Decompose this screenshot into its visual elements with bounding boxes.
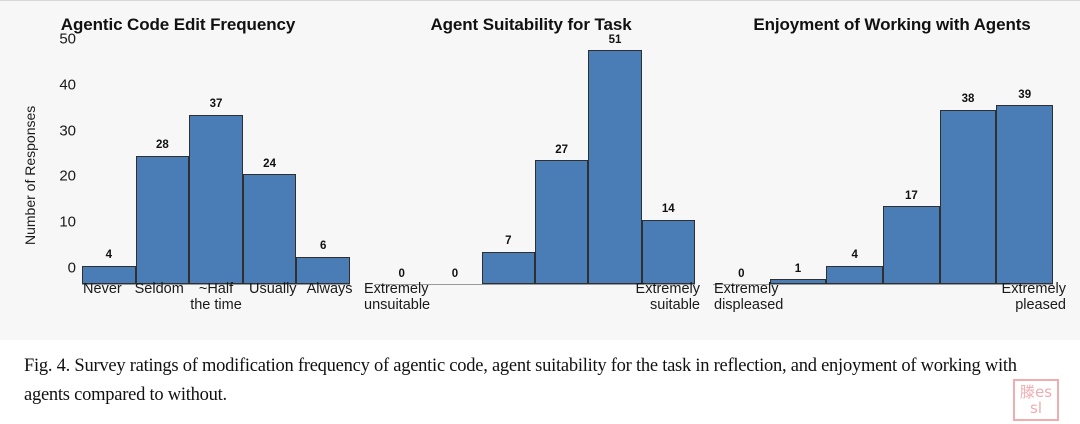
- bar: [189, 115, 243, 284]
- bar-slot: 27: [535, 55, 588, 284]
- bar-value-label: 6: [296, 241, 350, 253]
- bar-slot: 4: [826, 55, 883, 284]
- bar-value-label: 24: [243, 159, 297, 171]
- y-tick-label: 0: [68, 260, 76, 277]
- chart-agentic-code-edit-frequency: Agentic Code Edit Frequency 50 40 30 20 …: [0, 1, 356, 341]
- bar-slot: 51: [588, 55, 641, 284]
- x-tick-label-end: Extremely suitable: [604, 281, 700, 325]
- x-axis-labels: Extremely displeased Extremely pleased: [714, 281, 1066, 325]
- bar-slot: 38: [940, 55, 997, 284]
- bar-slot: 24: [243, 55, 297, 284]
- bar-value-label: 39: [996, 90, 1053, 102]
- bar-series: 0 0 7 27 51: [375, 55, 695, 284]
- bar-slot: 28: [136, 55, 190, 284]
- bar: [136, 156, 190, 284]
- bar: [296, 257, 350, 284]
- y-tick-label: 40: [59, 76, 76, 93]
- bar-slot: 0: [713, 55, 770, 284]
- bar-slot: 7: [482, 55, 535, 284]
- x-tick-label: Never: [74, 281, 131, 325]
- chart-title: Agent Suitability for Task: [362, 15, 700, 35]
- y-tick-label: 20: [59, 168, 76, 185]
- bar-value-label: 0: [713, 269, 770, 281]
- x-axis-labels: Never Seldom ~Half the time Usually Alwa…: [74, 281, 358, 325]
- bar: [642, 220, 695, 284]
- bar-value-label: 1: [770, 264, 827, 276]
- y-tick-label: 30: [59, 122, 76, 139]
- bar-series: 4 28 37 24 6: [82, 55, 350, 284]
- y-tick-label: 10: [59, 214, 76, 231]
- bar-value-label: 4: [82, 250, 136, 262]
- x-tick-label: Always: [301, 281, 358, 325]
- x-tick-label-end: Extremely pleased: [970, 281, 1066, 325]
- bar-value-label: 4: [826, 250, 883, 262]
- bar-value-label: 17: [883, 191, 940, 203]
- bar: [243, 174, 297, 284]
- x-tick-label-start: Extremely displeased: [714, 281, 810, 325]
- figure-caption: Fig. 4. Survey ratings of modification f…: [24, 352, 1056, 410]
- bar-slot: 6: [296, 55, 350, 284]
- x-tick-label: Usually: [244, 281, 301, 325]
- plot-area: 0 1 4 17 38: [713, 55, 1053, 285]
- bar-slot: 4: [82, 55, 136, 284]
- bar-value-label: 27: [535, 145, 588, 157]
- bar-value-label: 38: [940, 94, 997, 106]
- bar: [940, 110, 997, 284]
- chart-enjoyment-of-working-with-agents: Enjoyment of Working with Agents 0 1 4: [704, 1, 1080, 341]
- bar-value-label: 28: [136, 140, 190, 152]
- watermark-seal-stamp: 滕essl: [1013, 379, 1059, 421]
- y-axis-label: Number of Responses: [22, 106, 38, 245]
- bar-value-label: 0: [375, 269, 428, 281]
- chart-agent-suitability-for-task: Agent Suitability for Task 0 0 7: [362, 1, 700, 341]
- x-tick-label-start: Extremely unsuitable: [364, 281, 460, 325]
- bar: [482, 252, 535, 284]
- bar-slot: 37: [189, 55, 243, 284]
- bar-value-label: 7: [482, 236, 535, 248]
- bar: [883, 206, 940, 284]
- bar-slot: 39: [996, 55, 1053, 284]
- bar-value-label: 37: [189, 99, 243, 111]
- y-tick-label: 50: [59, 31, 76, 48]
- bar-series: 0 1 4 17 38: [713, 55, 1053, 284]
- bar: [588, 50, 641, 284]
- bar-slot: 0: [428, 55, 481, 284]
- figure-page: Agentic Code Edit Frequency 50 40 30 20 …: [0, 0, 1080, 424]
- plot-area: 0 0 7 27 51: [375, 55, 695, 285]
- x-axis-labels: Extremely unsuitable Extremely suitable: [364, 281, 700, 325]
- bar-value-label: 14: [642, 204, 695, 216]
- bar: [996, 105, 1053, 284]
- bar-value-label: 51: [588, 35, 641, 47]
- chart-title: Enjoyment of Working with Agents: [704, 15, 1080, 35]
- x-tick-label: Seldom: [131, 281, 188, 325]
- bar-slot: 0: [375, 55, 428, 284]
- bar-slot: 1: [770, 55, 827, 284]
- seal-text: 滕essl: [1018, 384, 1054, 416]
- plot-area: 4 28 37 24 6: [82, 55, 350, 285]
- bar-value-label: 0: [428, 269, 481, 281]
- bar-slot: 14: [642, 55, 695, 284]
- y-axis: 50 40 30 20 10 0: [38, 56, 82, 285]
- figure-panel: Agentic Code Edit Frequency 50 40 30 20 …: [0, 0, 1080, 340]
- bar-slot: 17: [883, 55, 940, 284]
- bar: [535, 160, 588, 284]
- chart-title: Agentic Code Edit Frequency: [0, 15, 356, 35]
- x-tick-label: ~Half the time: [188, 281, 245, 325]
